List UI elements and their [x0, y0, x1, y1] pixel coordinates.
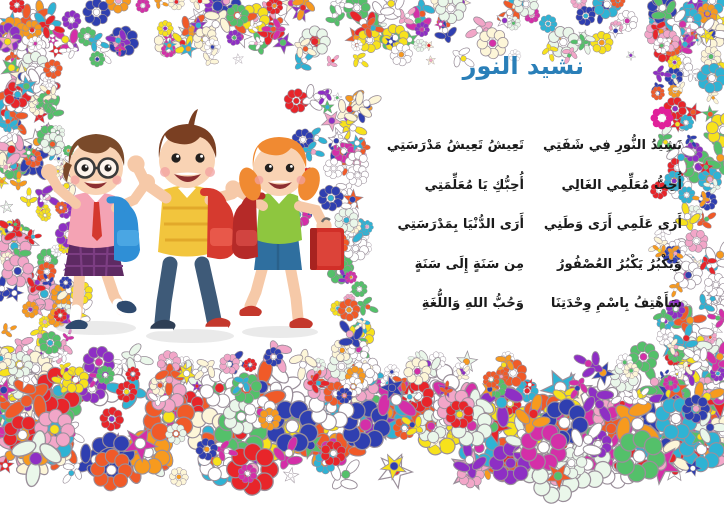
verse-hemistich-left: أُحِبُّكِ يَا مُعَلِّمَتِي — [352, 178, 524, 218]
verse-row: سَأَهْتِفُ بِاسْمِ وِحْدَتِنَا وَحُبُّ ا… — [352, 296, 682, 313]
verse-hemistich-right: أَرَى عَلَمِي أَرَى وَطَنِي — [524, 217, 682, 257]
worksheet-page: {} — [0, 0, 724, 512]
verse-hemistich-right: نَشِيدُ النُّورِ فِي شَفَتِي — [524, 138, 682, 178]
verse-hemistich-left: أَرَى الدُّنْيَا بِمَدْرَسَتِي — [352, 217, 524, 257]
verse-hemistich-right: سَأَهْتِفُ بِاسْمِ وِحْدَتِنَا — [524, 296, 682, 313]
verse-hemistich-left: مِن سَنَةٍ إِلَى سَنَةٍ — [352, 257, 524, 297]
verse-hemistich-right: أُحِبُّ مُعَلِّمِي الغَالِي — [524, 178, 682, 218]
verse-hemistich-left: تَعِيشُ تَعِيشُ مَدْرَسَتِي — [352, 138, 524, 178]
verse-hemistich-left: وَحُبُّ اللهِ وَاللُّغَةِ — [352, 296, 524, 313]
verse-row: أَرَى عَلَمِي أَرَى وَطَنِي أَرَى الدُّن… — [352, 217, 682, 257]
magenta-daisy-icon — [650, 106, 674, 130]
verse-row: أُحِبُّ مُعَلِّمِي الغَالِي أُحِبُّكِ يَ… — [352, 178, 682, 218]
verse-hemistich-right: وَيَكْبُرُ يَكْبُرُ العُصْفُورُ — [524, 257, 682, 297]
poem-title: نشيد النور — [463, 52, 584, 80]
verse-rows: نَشِيدُ النُّورِ فِي شَفَتِي تَعِيشُ تَع… — [352, 138, 682, 313]
verse-row: نَشِيدُ النُّورِ فِي شَفَتِي تَعِيشُ تَع… — [352, 138, 682, 178]
three-school-children-illustration — [18, 96, 348, 346]
poem-verse-table: نَشِيدُ النُّورِ فِي شَفَتِي تَعِيشُ تَع… — [352, 138, 682, 313]
verse-row: وَيَكْبُرُ يَكْبُرُ العُصْفُورُ مِن سَنَ… — [352, 257, 682, 297]
child-girl-with-book — [225, 137, 344, 328]
